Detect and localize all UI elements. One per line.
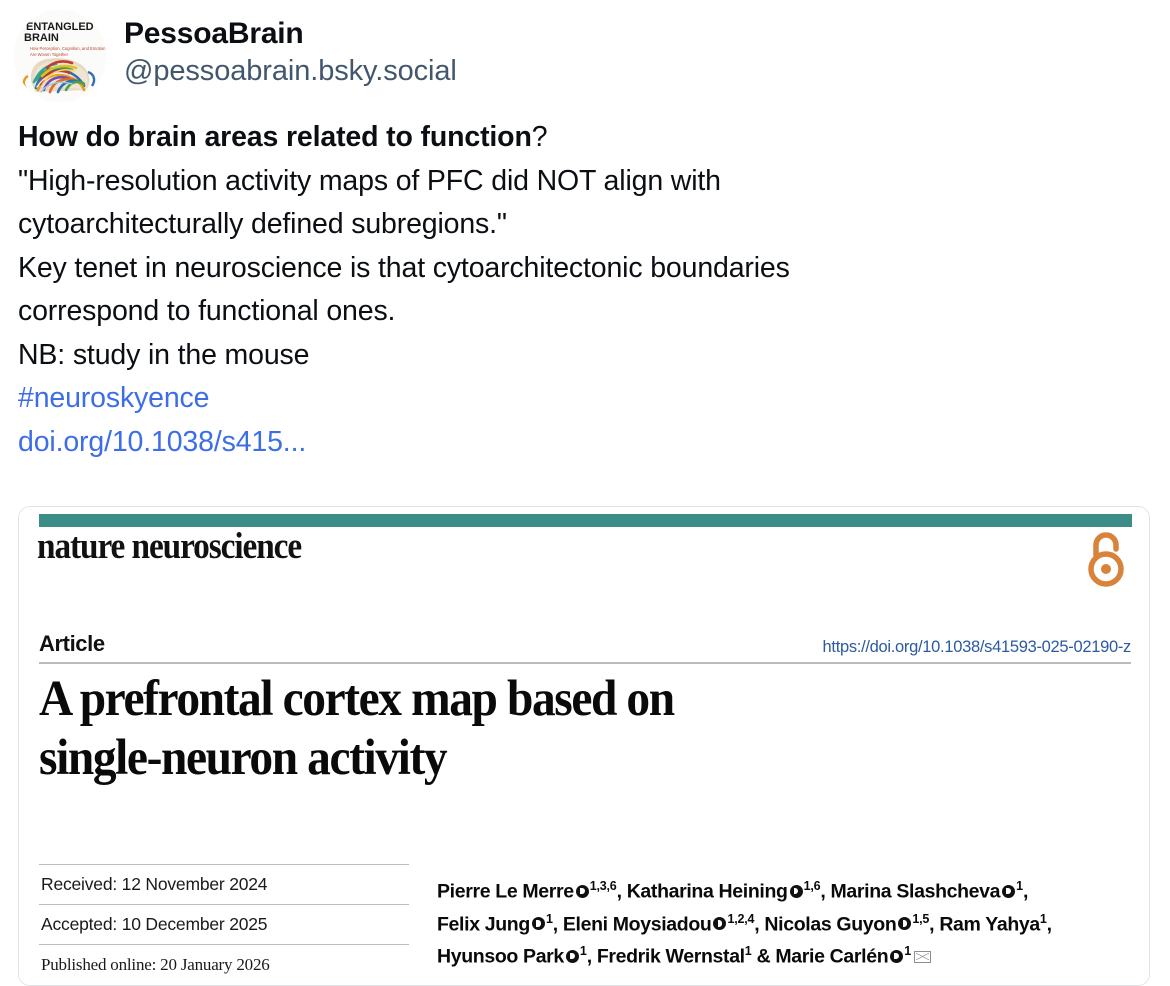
author-affiliation-sup: 1 bbox=[904, 944, 911, 958]
orcid-icon[interactable] bbox=[890, 950, 903, 963]
author-name: Marie Carlén bbox=[775, 946, 888, 968]
received-date: Received: 12 November 2024 bbox=[39, 865, 409, 905]
account-identity: PessoaBrain @pessoabrain.bsky.social bbox=[124, 12, 457, 89]
paper-title-line-1: A prefrontal cortex map based on bbox=[39, 670, 857, 729]
post-line-1-bold: How do brain areas related to function bbox=[18, 121, 532, 153]
svg-text:Are Woven Together: Are Woven Together bbox=[30, 52, 69, 57]
orcid-icon[interactable] bbox=[566, 950, 579, 963]
open-access-lock-icon bbox=[1085, 529, 1127, 587]
author-affiliation-sup: 1 bbox=[1016, 879, 1023, 893]
author-affiliation-sup: 1 bbox=[745, 944, 752, 958]
post-line-6: NB: study in the mouse bbox=[18, 334, 1156, 378]
post-line-1: How do brain areas related to function? bbox=[18, 116, 1156, 160]
author-affiliation-sup: 1,2,4 bbox=[727, 912, 754, 926]
paper-authors-column: Pierre Le Merre1,3,6, Katharina Heining1… bbox=[409, 864, 1131, 984]
orcid-icon[interactable] bbox=[576, 885, 589, 898]
external-link[interactable]: doi.org/10.1038/s415... bbox=[18, 426, 306, 458]
orcid-icon[interactable] bbox=[713, 917, 726, 930]
bluesky-post: ENTANGLED BRAIN How Perception, Cognitio… bbox=[0, 0, 1170, 982]
avatar[interactable]: ENTANGLED BRAIN How Perception, Cognitio… bbox=[14, 10, 106, 102]
svg-text:How Perception, Cognition, and: How Perception, Cognition, and Emotion bbox=[30, 46, 106, 51]
embed-card-paper[interactable]: nature neuroscience Article https://doi.… bbox=[18, 506, 1150, 986]
author-name: Felix Jung bbox=[437, 913, 530, 935]
author-name: Katharina Heining bbox=[627, 881, 788, 903]
post-line-4: Key tenet in neuroscience is that cytoar… bbox=[18, 247, 1156, 291]
corresponding-author-email-icon[interactable] bbox=[914, 951, 931, 963]
author-name: Ram Yahya bbox=[939, 913, 1040, 935]
author-line-3: Hyunsoo Park1, Fredrik Wernstal1 & Marie… bbox=[437, 938, 1131, 971]
journal-logo: nature neuroscience bbox=[37, 525, 301, 568]
author-affiliation-sup: 1 bbox=[580, 944, 587, 958]
author-name: Fredrik Wernstal bbox=[597, 946, 745, 968]
author-name: Marina Slashcheva bbox=[831, 881, 1001, 903]
author-affiliation-sup: 1,3,6 bbox=[590, 879, 617, 893]
author-affiliation-sup: 1,6 bbox=[804, 879, 821, 893]
paper-preview: nature neuroscience Article https://doi.… bbox=[19, 507, 1149, 985]
orcid-icon[interactable] bbox=[532, 917, 545, 930]
article-doi-link[interactable]: https://doi.org/10.1038/s41593-025-02190… bbox=[823, 638, 1131, 657]
author-affiliation-sup: 1,5 bbox=[912, 912, 929, 926]
hashtag-link[interactable]: #neuroskyence bbox=[18, 382, 209, 414]
svg-text:BRAIN: BRAIN bbox=[24, 32, 59, 44]
paper-dates-column: Received: 12 November 2024 Accepted: 10 … bbox=[39, 864, 409, 984]
published-date: Published online: 20 January 2026 bbox=[39, 945, 409, 984]
article-kind-label: Article bbox=[39, 631, 105, 657]
paper-meta-zone: Received: 12 November 2024 Accepted: 10 … bbox=[39, 864, 1131, 984]
post-line-5: correspond to functional ones. bbox=[18, 290, 1156, 334]
post-text: How do brain areas related to function? … bbox=[0, 100, 1170, 464]
paper-title: A prefrontal cortex map based on single-… bbox=[39, 670, 857, 788]
post-line-1-rest: ? bbox=[532, 121, 548, 153]
author-line-1: Pierre Le Merre1,3,6, Katharina Heining1… bbox=[437, 873, 1131, 906]
orcid-icon[interactable] bbox=[898, 917, 911, 930]
author-name: Nicolas Guyon bbox=[764, 913, 896, 935]
post-line-2: "High-resolution activity maps of PFC di… bbox=[18, 160, 1156, 204]
display-name[interactable]: PessoaBrain bbox=[124, 16, 457, 52]
author-affiliation-sup: 1 bbox=[546, 912, 553, 926]
accepted-date: Accepted: 10 December 2025 bbox=[39, 905, 409, 945]
post-header: ENTANGLED BRAIN How Perception, Cognitio… bbox=[0, 0, 1170, 100]
post-line-3: cytoarchitecturally defined subregions." bbox=[18, 203, 1156, 247]
orcid-icon[interactable] bbox=[790, 885, 803, 898]
author-name: Hyunsoo Park bbox=[437, 946, 564, 968]
author-name: Eleni Moysiadou bbox=[563, 913, 712, 935]
account-handle[interactable]: @pessoabrain.bsky.social bbox=[124, 53, 457, 89]
paper-title-line-2: single-neuron activity bbox=[39, 729, 857, 788]
avatar-image: ENTANGLED BRAIN How Perception, Cognitio… bbox=[14, 10, 106, 102]
article-meta-row: Article https://doi.org/10.1038/s41593-0… bbox=[39, 631, 1131, 664]
author-name: Pierre Le Merre bbox=[437, 881, 574, 903]
author-affiliation-sup: 1 bbox=[1040, 912, 1047, 926]
orcid-icon[interactable] bbox=[1002, 885, 1015, 898]
author-line-2: Felix Jung1, Eleni Moysiadou1,2,4, Nicol… bbox=[437, 906, 1131, 939]
